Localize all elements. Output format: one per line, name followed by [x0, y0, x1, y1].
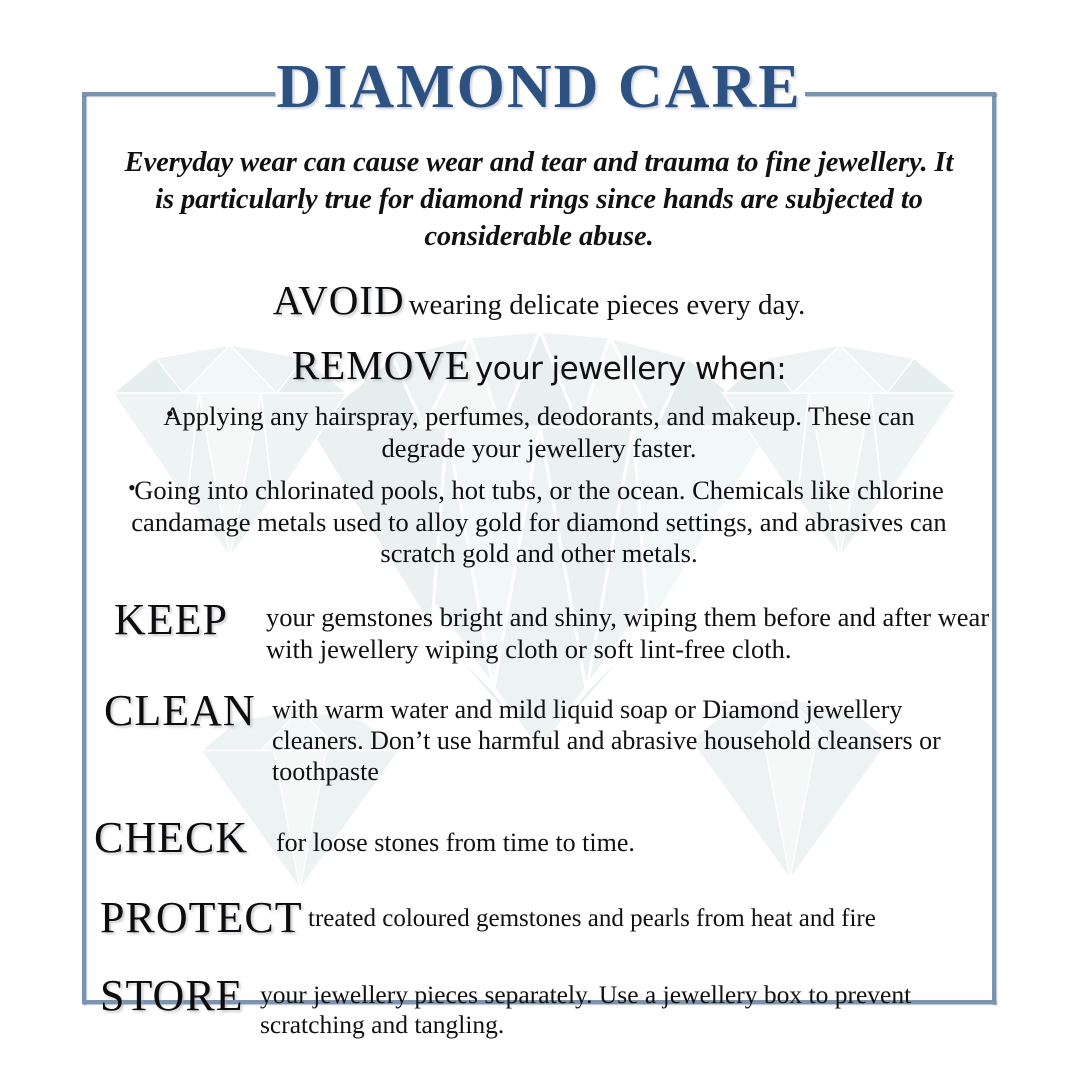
section-check: CHECK for loose stones from time to time… — [86, 816, 992, 860]
avoid-keyword: AVOID — [273, 277, 405, 323]
diamond-care-infographic: DIAMOND CARE Everyday wear can cause wea… — [0, 0, 1080, 1080]
section-remove: REMOVE your jewellery when: — [86, 344, 992, 387]
remove-text: your jewellery when: — [475, 351, 786, 387]
clean-keyword: CLEAN — [104, 687, 272, 733]
store-keyword: STORE — [100, 974, 260, 1018]
protect-keyword: PROTECT — [100, 896, 308, 940]
section-protect: PROTECT treated coloured gemstones and p… — [86, 896, 992, 940]
list-item: • Applying any hairspray, perfumes, deod… — [86, 401, 992, 465]
bullet-icon: • — [128, 475, 136, 501]
check-text: for loose stones from time to time. — [276, 816, 992, 859]
section-clean: CLEAN with warm water and mild liquid so… — [86, 687, 992, 788]
store-text: your jewellery pieces separately. Use a … — [260, 974, 992, 1041]
section-keep: KEEP your gemstones bright and shiny, wi… — [86, 596, 992, 665]
remove-bullet-list: • Applying any hairspray, perfumes, deod… — [86, 401, 992, 570]
bullet-icon: • — [166, 401, 174, 427]
page-title: DIAMOND CARE — [86, 56, 992, 118]
keep-keyword: KEEP — [114, 596, 266, 642]
check-keyword: CHECK — [94, 816, 276, 860]
section-store: STORE your jewellery pieces separately. … — [86, 974, 992, 1041]
keep-text: your gemstones bright and shiny, wiping … — [266, 596, 992, 665]
avoid-text: wearing delicate pieces every day. — [409, 289, 806, 321]
protect-text: treated coloured gemstones and pearls fr… — [308, 896, 992, 934]
list-item: • Going into chlorinated pools, hot tubs… — [86, 475, 992, 570]
care-content: DIAMOND CARE Everyday wear can cause wea… — [86, 56, 992, 1041]
remove-keyword: REMOVE — [292, 342, 471, 388]
list-item-text: Applying any hairspray, perfumes, deodor… — [163, 401, 914, 463]
frame-right-edge — [992, 92, 996, 1004]
list-item-text: Going into chlorinated pools, hot tubs, … — [131, 475, 946, 569]
intro-paragraph: Everyday wear can cause wear and tear an… — [124, 144, 954, 255]
clean-text: with warm water and mild liquid soap or … — [272, 687, 992, 788]
section-avoid: AVOID wearing delicate pieces every day. — [86, 279, 992, 322]
